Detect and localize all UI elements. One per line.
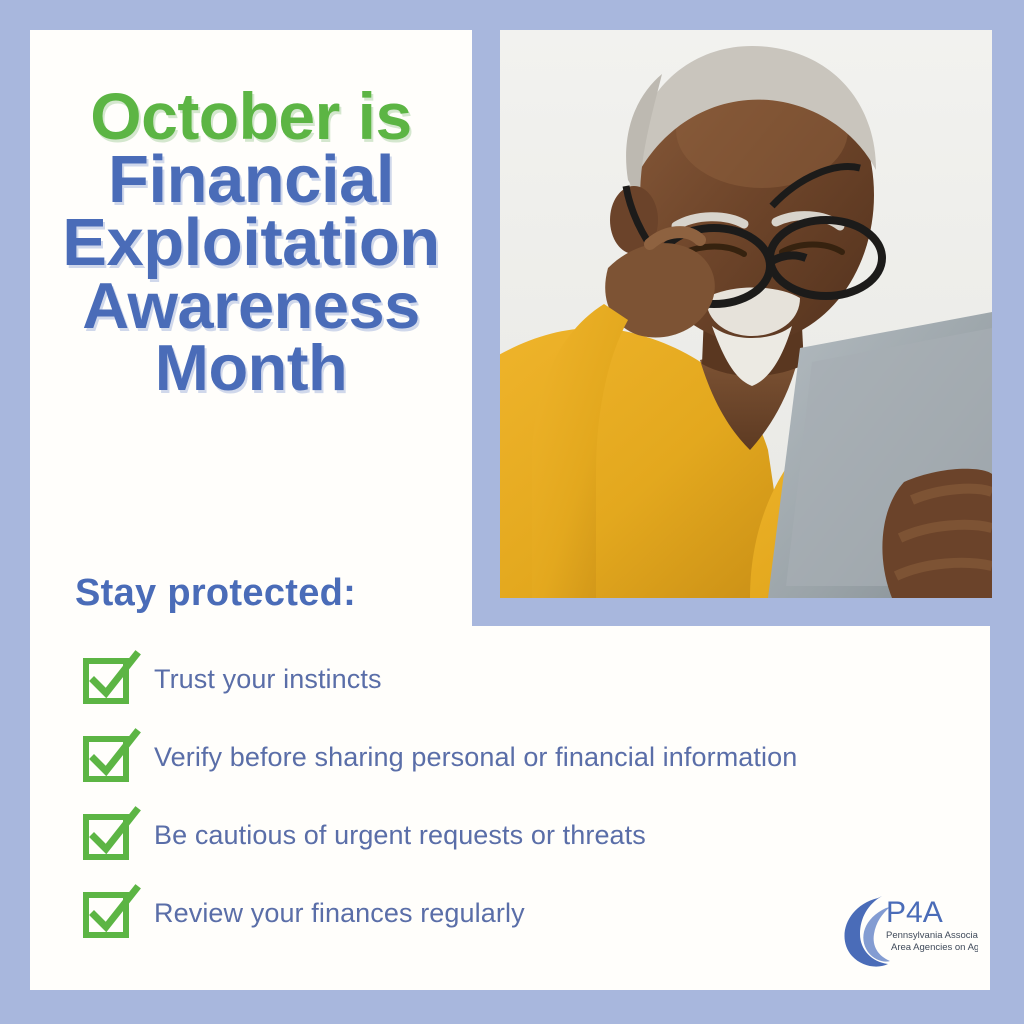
checkbox-checked-icon xyxy=(82,653,134,705)
list-item: Verify before sharing personal or financ… xyxy=(82,718,942,796)
headline-line-2: Financial xyxy=(30,148,472,212)
logo-tagline-line-1: Pennsylvania Association of xyxy=(886,930,978,941)
headline-line-4: Awareness xyxy=(30,275,472,337)
list-item: Trust your instincts xyxy=(82,640,942,718)
poster: October is Financial Exploitation Awaren… xyxy=(0,0,1024,1024)
checkbox-checked-icon xyxy=(82,809,134,861)
list-item-label: Review your finances regularly xyxy=(154,898,525,929)
list-item: Be cautious of urgent requests or threat… xyxy=(82,796,942,874)
page-title: October is Financial Exploitation Awaren… xyxy=(30,85,472,398)
checkbox-checked-icon xyxy=(82,731,134,783)
checkbox-checked-icon xyxy=(82,887,134,939)
list-item-label: Trust your instincts xyxy=(154,664,382,695)
p4a-logo: P4A Pennsylvania Association of Area Age… xyxy=(838,890,978,970)
logo-wordmark: P4A xyxy=(886,896,943,929)
headline-line-3: Exploitation xyxy=(30,211,472,275)
list-item-label: Be cautious of urgent requests or threat… xyxy=(154,820,646,851)
crescent-swoosh-icon xyxy=(844,896,890,967)
logo-tagline-line-2: Area Agencies on Aging xyxy=(891,942,978,953)
stay-protected-heading: Stay protected: xyxy=(75,572,356,615)
list-item-label: Verify before sharing personal or financ… xyxy=(154,742,797,773)
hero-photo xyxy=(500,30,992,598)
list-item: Review your finances regularly xyxy=(82,874,942,952)
checklist: Trust your instincts Verify before shari… xyxy=(82,640,942,952)
headline-line-1: October is xyxy=(30,85,472,148)
headline-line-5: Month xyxy=(30,337,472,399)
photo-frame xyxy=(472,0,1024,626)
